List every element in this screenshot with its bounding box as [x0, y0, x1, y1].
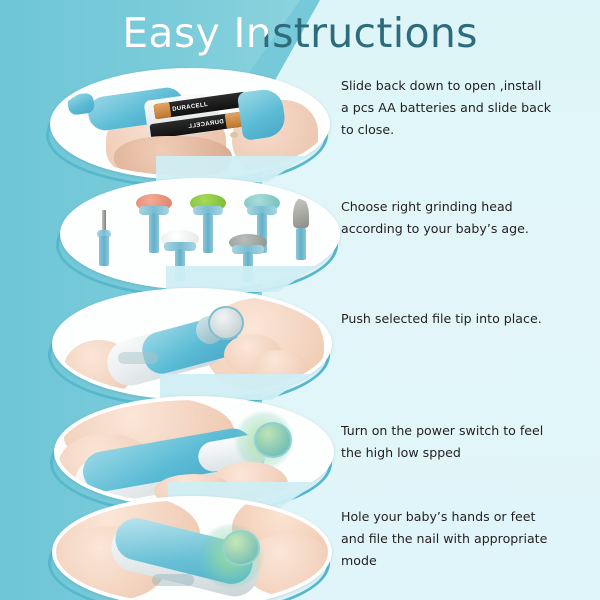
- instruction-line: a pcs AA batteries and slide back: [341, 97, 593, 119]
- instruction-line: Push selected file tip into place.: [341, 308, 593, 330]
- step-1-instruction-text: Slide back down to open ,install a pcs A…: [341, 75, 593, 141]
- instruction-line: the high low spped: [341, 442, 593, 464]
- instruction-line: according to your baby’s age.: [341, 218, 593, 240]
- step-5-instruction-text: Hole your baby’s hands or feet and file …: [341, 506, 593, 572]
- instruction-poster: Easy Instructions Easy Instructions DURA…: [0, 0, 600, 600]
- step-5-photo-panel: [48, 496, 328, 600]
- instruction-line: Turn on the power switch to feel: [341, 420, 593, 442]
- instruction-line: to close.: [341, 119, 593, 141]
- instruction-line: mode: [341, 550, 593, 572]
- instruction-line: Choose right grinding head: [341, 196, 593, 218]
- instruction-line: Slide back down to open ,install: [341, 75, 593, 97]
- spinning-file-tip: [254, 422, 292, 458]
- file-tip-on-nail: [222, 530, 260, 566]
- step-2-instruction-text: Choose right grinding head according to …: [341, 196, 593, 240]
- grinding-head-grey-cone: [286, 198, 316, 264]
- panel-photo: [52, 496, 332, 600]
- step-4-instruction-text: Turn on the power switch to feel the hig…: [341, 420, 593, 464]
- battery-brand-label-2: DURACELL: [187, 119, 224, 130]
- file-tip-disc: [208, 306, 244, 340]
- page-title: Easy Instructions Easy Instructions: [0, 4, 600, 64]
- instruction-line: and file the nail with appropriate: [341, 528, 593, 550]
- grinding-head-metal-pin-tip: [92, 210, 116, 268]
- scene-filing-nail: [56, 500, 328, 600]
- step-3-instruction-text: Push selected file tip into place.: [341, 308, 593, 330]
- instruction-line: Hole your baby’s hands or feet: [341, 506, 593, 528]
- cone-surface: [293, 198, 309, 228]
- battery-brand-label: DURACELL: [172, 101, 209, 112]
